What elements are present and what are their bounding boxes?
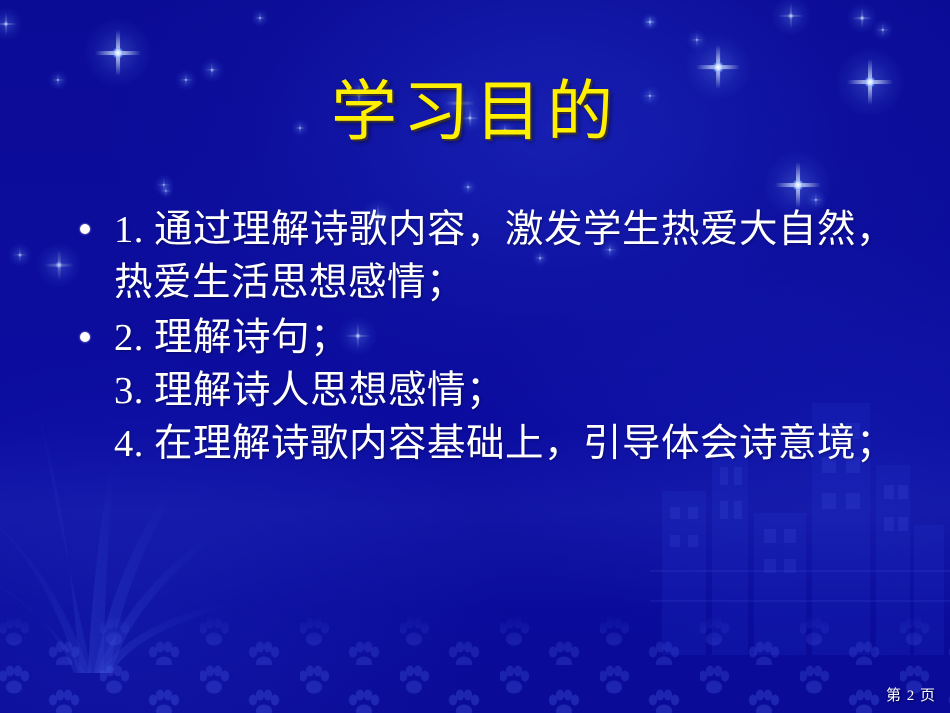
list-item: 1. 通过理解诗歌内容，激发学生热爱大自然，热爱生活思想感情； xyxy=(62,204,902,310)
bullet-marker xyxy=(62,312,114,368)
sparkle-star-icon xyxy=(157,178,171,192)
list-item-text: 1. 通过理解诗歌内容，激发学生热爱大自然，热爱生活思想感情； xyxy=(114,204,902,310)
paw-pattern-band xyxy=(0,617,950,713)
sparkle-star-icon xyxy=(463,182,474,193)
list-item-text: 2. 理解诗句； 3. 理解诗人思想感情； 4. 在理解诗歌内容基础上，引导体会… xyxy=(114,312,902,471)
presentation-slide: 学习目的 1. 通过理解诗歌内容，激发学生热爱大自然，热爱生活思想感情； 2. … xyxy=(0,0,950,713)
sparkle-star-icon xyxy=(0,13,17,35)
page-title: 学习目的 xyxy=(0,78,950,147)
page-number: 第 2 页 xyxy=(886,684,936,705)
sparkle-star-icon xyxy=(690,33,704,47)
bullet-dot-icon xyxy=(80,224,90,234)
bullet-list: 1. 通过理解诗歌内容，激发学生热爱大自然，热爱生活思想感情； 2. 理解诗句；… xyxy=(62,204,902,473)
sparkle-star-icon xyxy=(12,247,28,263)
sparkle-star-icon xyxy=(254,12,266,24)
sparkle-star-icon xyxy=(775,162,821,208)
list-item: 2. 理解诗句； 3. 理解诗人思想感情； 4. 在理解诗歌内容基础上，引导体会… xyxy=(62,312,902,471)
sparkle-star-icon xyxy=(778,3,804,29)
sparkle-star-icon xyxy=(95,30,141,76)
bullet-dot-icon xyxy=(80,332,90,342)
sparkle-star-icon xyxy=(204,62,220,78)
sparkle-star-icon xyxy=(876,23,890,37)
sparkle-star-icon xyxy=(644,16,656,28)
sparkle-star-icon xyxy=(852,8,872,28)
sparkle-star-icon xyxy=(645,17,655,27)
sparkle-star-icon xyxy=(161,186,171,196)
bullet-marker xyxy=(62,204,114,260)
